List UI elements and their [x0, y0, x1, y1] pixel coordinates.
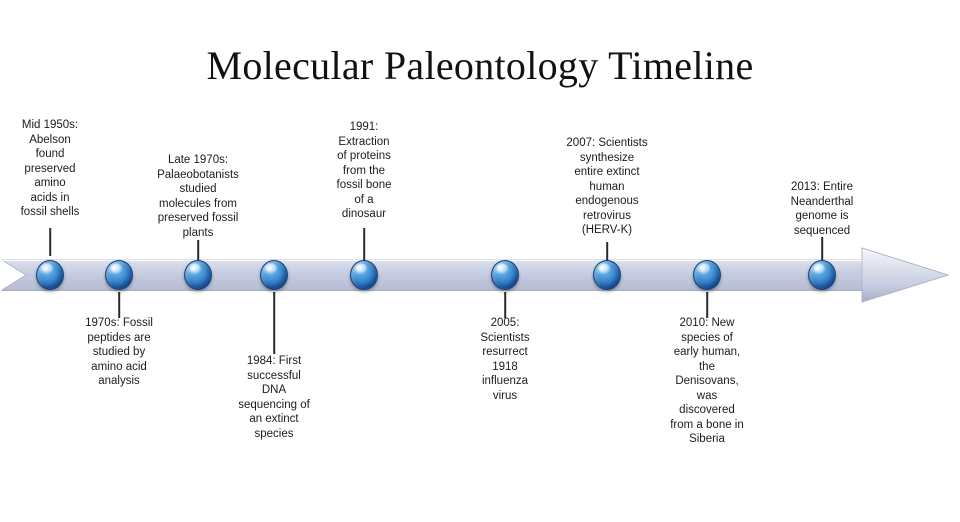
arrow-head — [862, 248, 948, 302]
timeline-diagram: Molecular Paleontology Timeline — [0, 0, 960, 522]
leader-line-mid-1950s-abelson — [49, 228, 51, 256]
event-label-late-1970s-palaeobotanists: Late 1970s: Palaeobotanists studied mole… — [157, 153, 239, 240]
event-label-1970s-fossil-peptides: 1970s: Fossil peptides are studied by am… — [85, 316, 153, 389]
leader-line-2005-1918-influenza — [504, 292, 506, 318]
timeline-marker-late-1970s-palaeobotanists[interactable] — [184, 260, 212, 290]
event-label-mid-1950s-abelson: Mid 1950s: Abelson found preserved amino… — [21, 118, 80, 220]
event-label-2013-neanderthal-genome: 2013: Entire Neanderthal genome is seque… — [791, 180, 854, 238]
timeline-marker-2013-neanderthal-genome[interactable] — [808, 260, 836, 290]
timeline-marker-2005-1918-influenza[interactable] — [491, 260, 519, 290]
leader-line-1970s-fossil-peptides — [118, 292, 120, 318]
leader-line-2010-denisovans — [706, 292, 708, 318]
arrow-body — [2, 248, 948, 302]
page-title: Molecular Paleontology Timeline — [0, 42, 960, 89]
event-label-2007-herv-k: 2007: Scientists synthesize entire extin… — [566, 136, 647, 238]
event-label-2005-1918-influenza: 2005: Scientists resurrect 1918 influenz… — [480, 316, 529, 403]
event-label-1984-dna-sequencing: 1984: First successful DNA sequencing of… — [238, 354, 310, 441]
timeline-marker-1984-dna-sequencing[interactable] — [260, 260, 288, 290]
timeline-marker-1991-dinosaur-proteins[interactable] — [350, 260, 378, 290]
timeline-marker-1970s-fossil-peptides[interactable] — [105, 260, 133, 290]
event-label-2010-denisovans: 2010: New species of early human, the De… — [670, 316, 744, 447]
timeline-marker-mid-1950s-abelson[interactable] — [36, 260, 64, 290]
timeline-marker-2007-herv-k[interactable] — [593, 260, 621, 290]
event-label-1991-dinosaur-proteins: 1991: Extraction of proteins from the fo… — [337, 120, 392, 222]
timeline-marker-2010-denisovans[interactable] — [693, 260, 721, 290]
leader-line-1984-dna-sequencing — [273, 292, 275, 354]
